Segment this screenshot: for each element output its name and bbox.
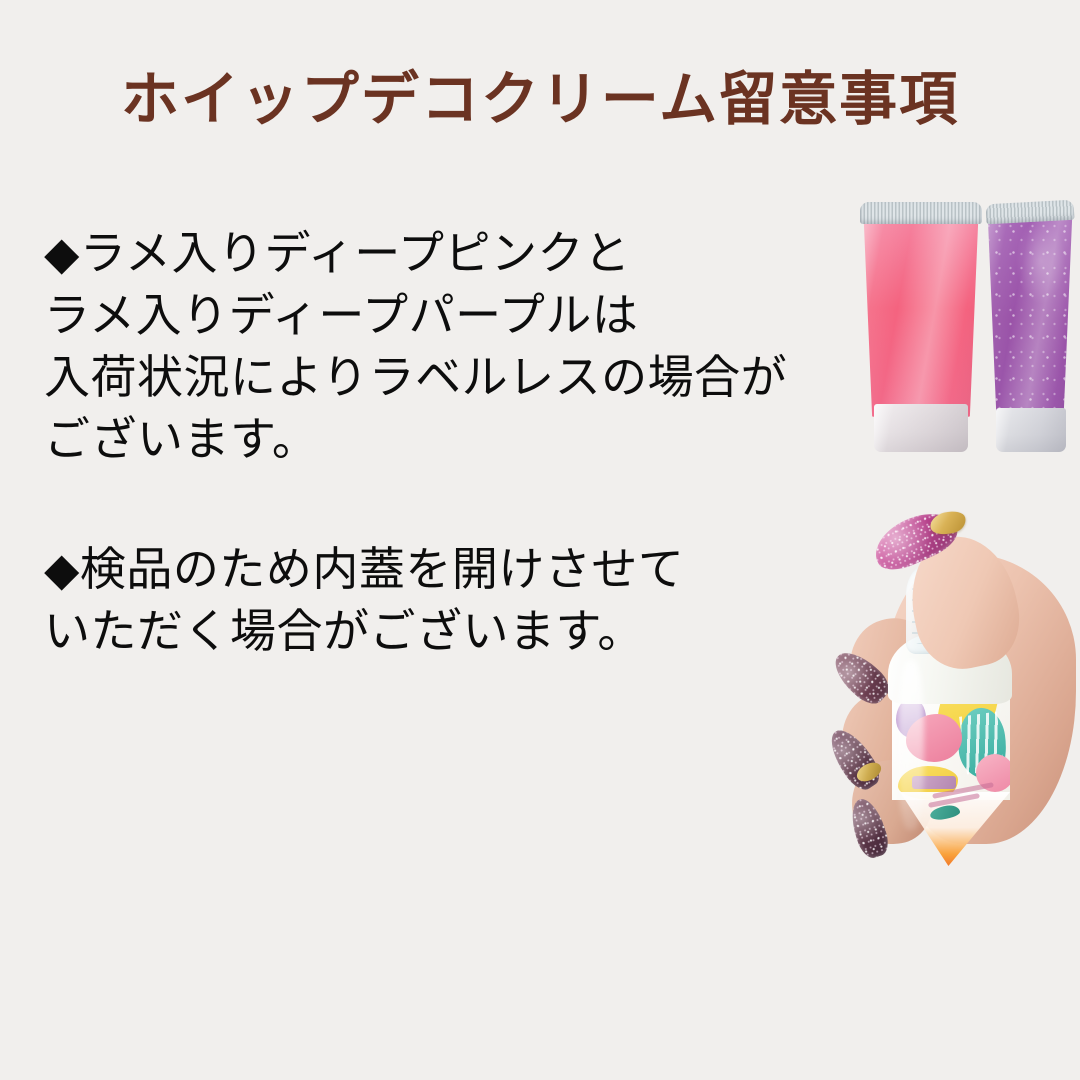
notice-line: ございます。	[44, 408, 844, 470]
pink-tube-body	[860, 218, 982, 418]
label-pink-flower-shape	[906, 714, 962, 762]
page-title: ホイップデコクリーム留意事項	[0, 68, 1080, 132]
purple-cream-tube	[986, 202, 1074, 452]
notice-paragraph: ◆検品のため内蓋を開けさせて いただく場合がございます。	[44, 538, 844, 662]
pink-tube-crimp-seal	[860, 202, 982, 224]
pink-tube-cap	[874, 404, 968, 452]
bottle-tapered-bottom	[900, 792, 1010, 866]
notice-line: 入荷状況によりラベルレスの場合が	[44, 346, 844, 408]
bottle-label-badge	[912, 776, 956, 789]
glitter-cream-tubes-photo	[852, 196, 1080, 452]
notice-line: ◆検品のため内蓋を開けさせて	[44, 538, 844, 600]
notice-line: いただく場合がございます。	[44, 600, 844, 662]
purple-tube-cap	[996, 408, 1066, 452]
purple-tube-body	[986, 216, 1074, 420]
notice-paragraph: ◆ラメ入りディープピンクと ラメ入りディープパープルは 入荷状況によりラベルレス…	[44, 222, 844, 470]
notice-line: ラメ入りディープパープルは	[44, 284, 844, 346]
pink-cream-tube	[860, 202, 982, 452]
notice-graphic: ホイップデコクリーム留意事項 ◆ラメ入りディープピンクと ラメ入りディープパープ…	[0, 0, 1080, 1080]
notice-line: ◆ラメ入りディープピンクと	[44, 222, 844, 284]
notice-text-block: ◆ラメ入りディープピンクと ラメ入りディープパープルは 入荷状況によりラベルレス…	[44, 222, 844, 662]
hand-holding-bottle-photo	[816, 506, 1080, 876]
